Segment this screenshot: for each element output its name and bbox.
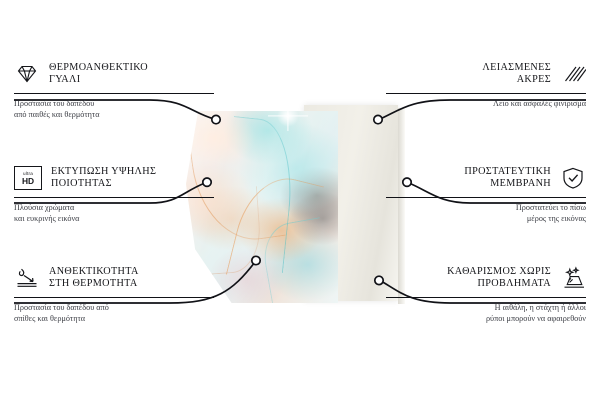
feature-heat-resistant-glass: ΘΕΡΜΟΑΝΘΕΚΤΙΚΟ ΓΥΑΛΙ Προστασία του δαπέδ…: [14, 62, 214, 120]
feature-title: ΕΚΤΥΠΩΣΗ ΥΨΗΛΗΣ ΠΟΙΟΤΗΤΑΣ: [51, 166, 156, 191]
feature-title: ΚΑΘΑΡΙΣΜΟΣ ΧΩΡΙΣ ΠΡΟΒΛΗΜΑΤΑ: [447, 266, 551, 291]
feature-title: ΘΕΡΜΟΑΝΘΕΚΤΙΚΟ ΓΥΑΛΙ: [49, 62, 148, 87]
shield-check-icon: [560, 166, 586, 190]
feature-subtitle: Λείο και ασφαλές φινίρισμα: [386, 99, 586, 110]
feature-subtitle: Η αιθάλη, η στάχτη ή άλλοι ρύποι μπορούν…: [386, 303, 586, 324]
feature-title: ΑΝΘΕΚΤΙΚΟΤΗΤΑ ΣΤΗ ΘΕΡΜΟΤΗΤΑ: [49, 266, 139, 291]
feature-protective-membrane: ΠΡΟΣΤΑΤΕΥΤΙΚΗ ΜΕΜΒΡΑΝΗ Προστατεύει το πί…: [386, 166, 586, 224]
feature-smooth-edges: ΛΕΙΑΣΜΕΝΕΣ ΑΚΡΕΣ Λείο και ασφαλές φινίρι…: [386, 62, 586, 110]
feature-high-quality-print: ultra HD ΕΚΤΥΠΩΣΗ ΥΨΗΛΗΣ ΠΟΙΟΤΗΤΑΣ Πλούσ…: [14, 166, 214, 224]
infographic-stage: ΘΕΡΜΟΑΝΘΕΚΤΙΚΟ ΓΥΑΛΙ Προστασία του δαπέδ…: [0, 0, 600, 400]
glass-glare-icon: [277, 111, 299, 127]
feature-subtitle: Προστασία του δαπέδου από σπίθες και θερ…: [14, 303, 214, 324]
divider: [14, 297, 214, 298]
product-image: [186, 105, 398, 310]
feature-subtitle: Πλούσια χρώματα και ευκρινής εικόνα: [14, 203, 214, 224]
divider: [386, 93, 586, 94]
sponge-sparkle-icon: [560, 266, 586, 290]
ultra-hd-icon: ultra HD: [14, 166, 42, 190]
divider: [386, 197, 586, 198]
feature-title: ΛΕΙΑΣΜΕΝΕΣ ΑΚΡΕΣ: [482, 62, 551, 87]
divider: [14, 197, 214, 198]
heat-resistant-icon: [14, 266, 40, 290]
divider: [386, 297, 586, 298]
feature-heat-durability: ΑΝΘΕΚΤΙΚΟΤΗΤΑ ΣΤΗ ΘΕΡΜΟΤΗΤΑ Προστασία το…: [14, 266, 214, 324]
feature-subtitle: Προστασία του δαπέδου από παιθές και θερ…: [14, 99, 214, 120]
smooth-edges-icon: [560, 62, 586, 86]
feature-easy-cleaning: ΚΑΘΑΡΙΣΜΟΣ ΧΩΡΙΣ ΠΡΟΒΛΗΜΑΤΑ Η αιθάλη, η …: [386, 266, 586, 324]
feature-title: ΠΡΟΣΤΑΤΕΥΤΙΚΗ ΜΕΜΒΡΑΝΗ: [464, 166, 551, 191]
diamond-icon: [14, 62, 40, 86]
badge-hd-label: HD: [22, 177, 34, 185]
feature-subtitle: Προστατεύει το πίσω μέρος της εικόνας: [386, 203, 586, 224]
divider: [14, 93, 214, 94]
